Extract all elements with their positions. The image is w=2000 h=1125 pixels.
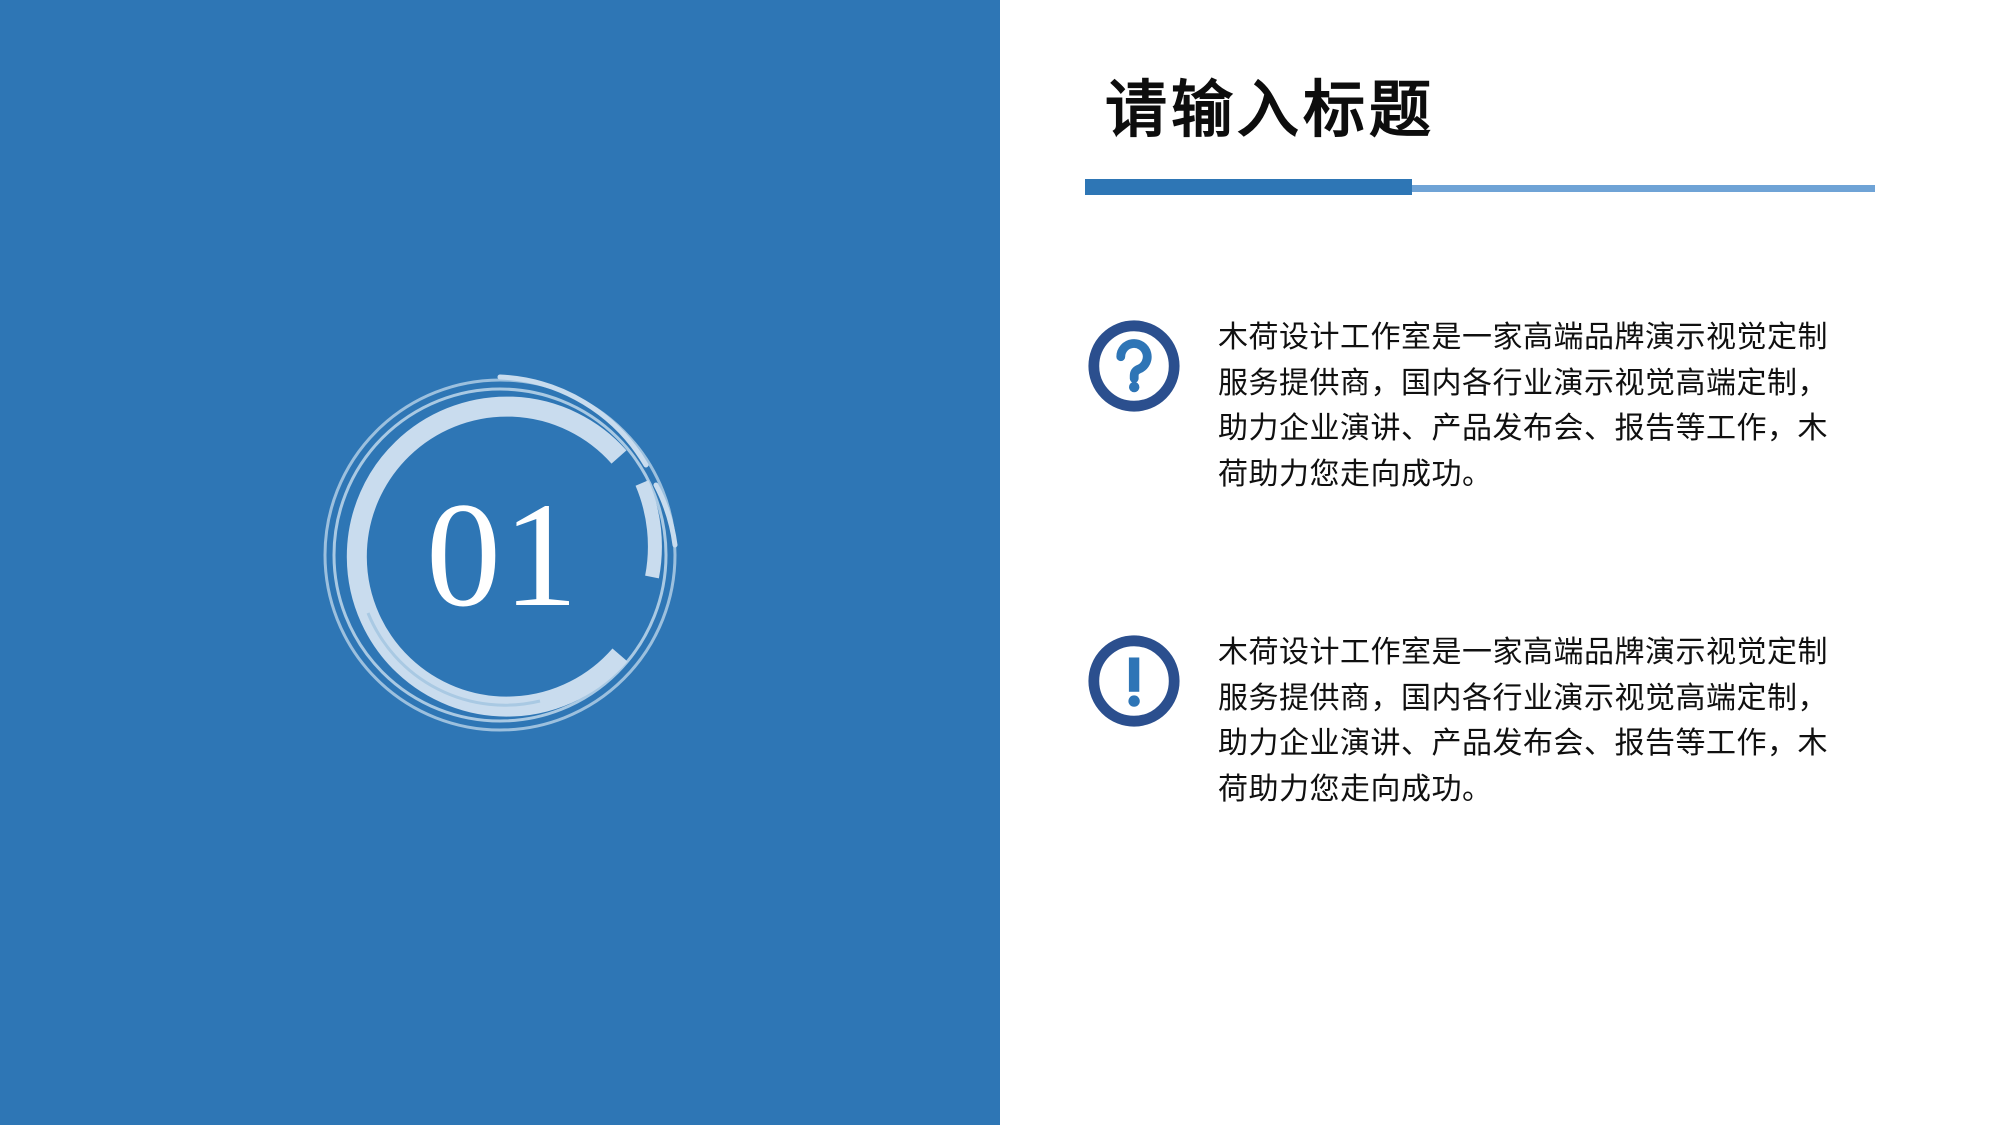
section-number: 01 [290, 345, 710, 765]
divider-thick-segment [1085, 179, 1412, 195]
slide-canvas: 01 请输入标题 木荷设计工作室是一家高端品牌演示视觉定制服务提供商，国内各行业… [0, 0, 2000, 1125]
question-mark-circle-icon [1085, 317, 1183, 415]
content-block-text: 木荷设计工作室是一家高端品牌演示视觉定制服务提供商，国内各行业演示视觉高端定制，… [1218, 630, 1828, 812]
exclamation-mark-circle-icon [1085, 632, 1183, 730]
divider-thin-segment [1412, 185, 1875, 192]
content-block: 木荷设计工作室是一家高端品牌演示视觉定制服务提供商，国内各行业演示视觉高端定制，… [1085, 630, 1925, 812]
content-block: 木荷设计工作室是一家高端品牌演示视觉定制服务提供商，国内各行业演示视觉高端定制，… [1085, 315, 1925, 497]
title-divider [1085, 179, 1875, 195]
left-accent-panel: 01 [0, 0, 1000, 1125]
content-block-text: 木荷设计工作室是一家高端品牌演示视觉定制服务提供商，国内各行业演示视觉高端定制，… [1218, 315, 1828, 497]
page-title: 请输入标题 [1105, 72, 1435, 150]
right-content-panel: 请输入标题 木荷设计工作室是一家高端品牌演示视觉定制服务提供商，国内各行业演示视… [1000, 0, 2000, 1125]
